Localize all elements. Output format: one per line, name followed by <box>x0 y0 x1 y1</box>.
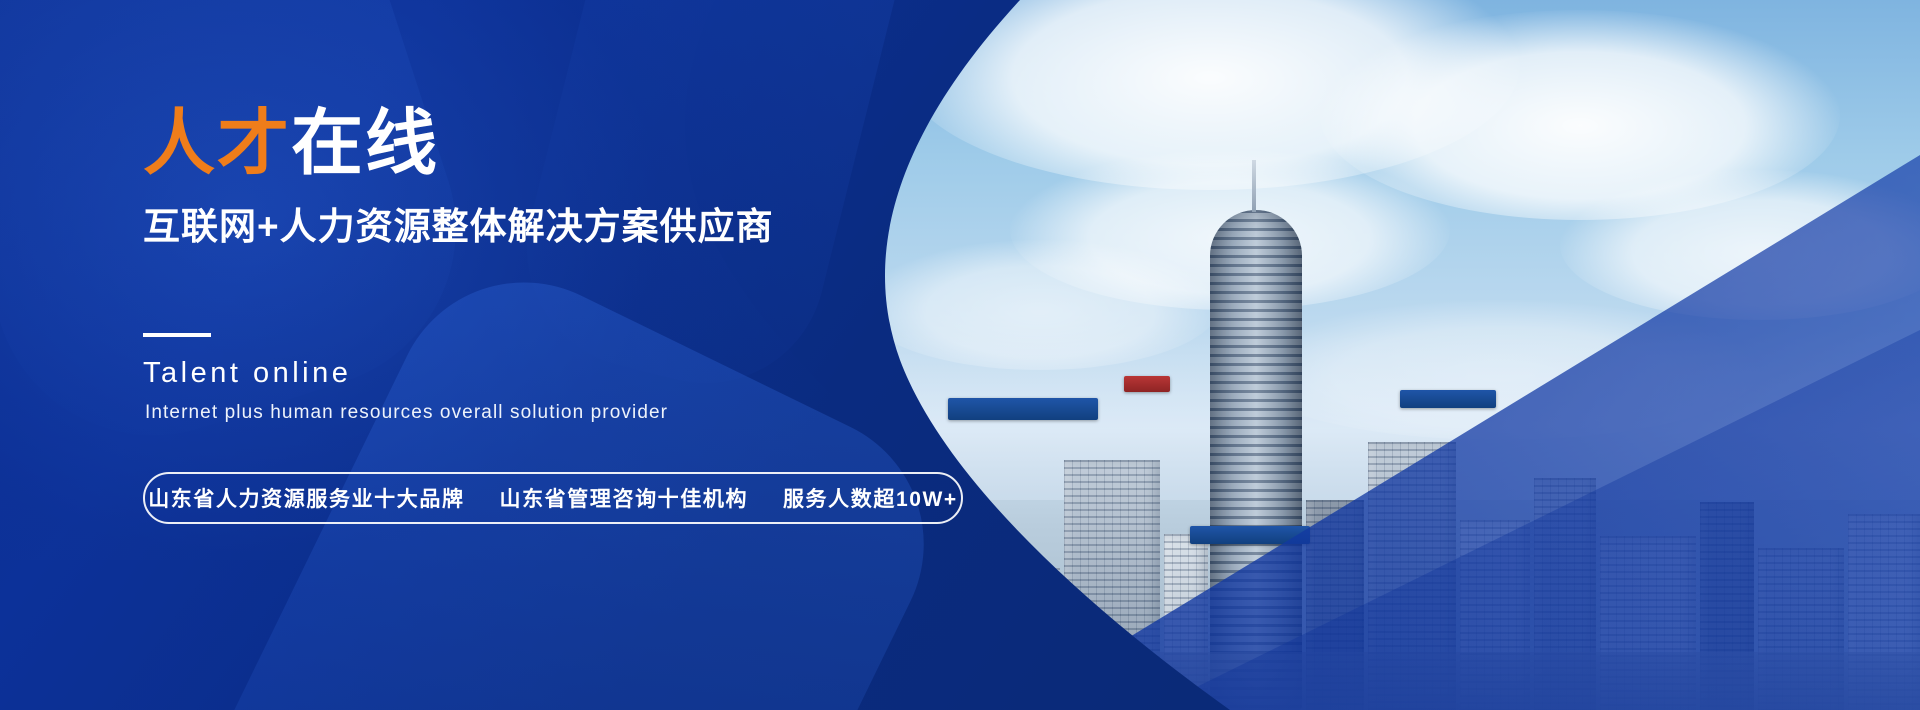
headline-plain: 在线 <box>291 104 439 184</box>
credential-item-3: 服务人数超10W+ <box>783 488 958 511</box>
billboard-sign <box>1400 390 1496 408</box>
credentials-text: 山东省人力资源服务业十大品牌 山东省管理咨询十佳机构 服务人数超10W+ <box>148 483 958 513</box>
hero-banner: 人才在线 互联网+人力资源整体解决方案供应商 Talent online Int… <box>0 0 1920 710</box>
headline: 人才在线 <box>143 108 439 180</box>
headline-accent: 人才 <box>143 104 291 184</box>
credential-item-2: 山东省管理咨询十佳机构 <box>499 488 748 511</box>
billboard-sign <box>1124 376 1170 392</box>
english-title: Talent online <box>143 357 351 390</box>
subheadline: 互联网+人力资源整体解决方案供应商 <box>143 196 774 250</box>
credentials-badge: 山东省人力资源服务业十大品牌 山东省管理咨询十佳机构 服务人数超10W+ <box>143 472 963 524</box>
cloud-icon <box>1320 10 1840 220</box>
tower-spire <box>1252 160 1256 212</box>
divider-rule <box>143 333 211 337</box>
english-subtitle: Internet plus human resources overall so… <box>145 402 668 424</box>
credential-item-1: 山东省人力资源服务业十大品牌 <box>148 488 464 511</box>
banner-content: 人才在线 互联网+人力资源整体解决方案供应商 Talent online Int… <box>0 0 1100 710</box>
